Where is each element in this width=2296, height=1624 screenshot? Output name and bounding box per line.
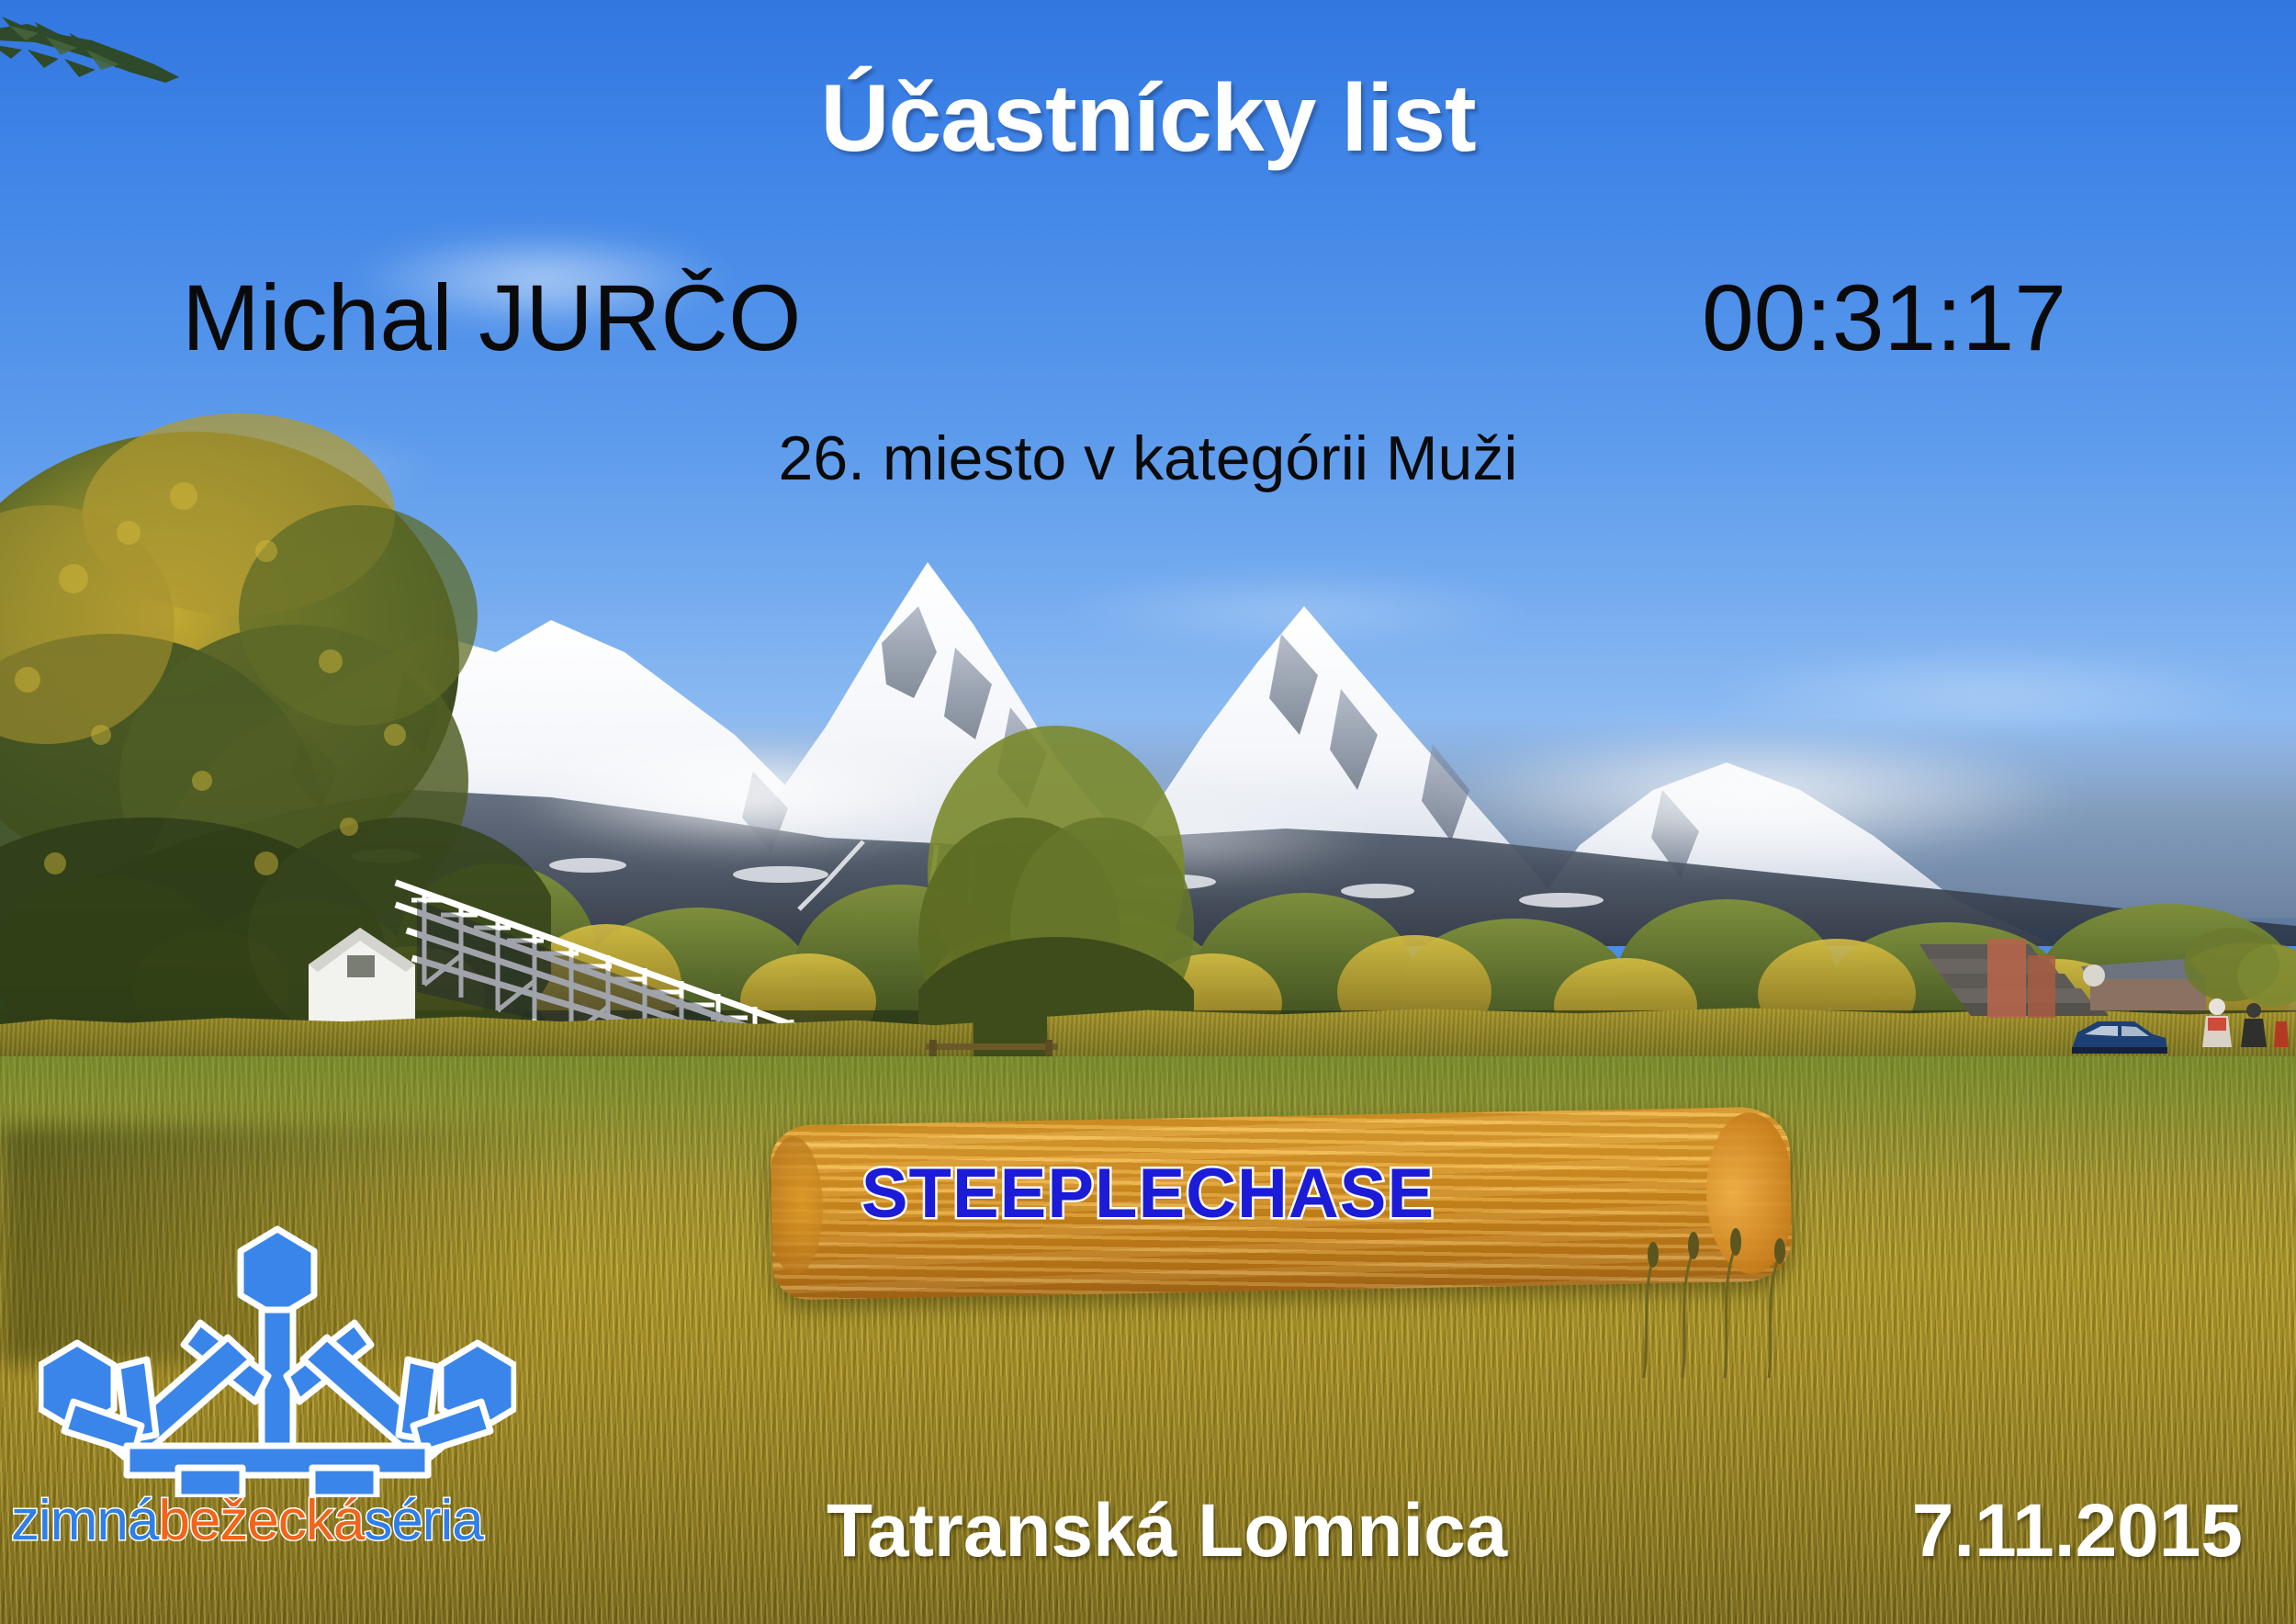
participant-name: Michal JURČO xyxy=(182,265,801,372)
logo-word-bezecka: bežecká xyxy=(158,1489,364,1552)
placement-text: 26. miesto v kategórii Muži xyxy=(0,423,2296,494)
series-logo-wordmark: zimnábežeckáséria xyxy=(11,1488,483,1553)
snowflake-icon xyxy=(39,1222,516,1497)
participant-certificate: Účastnícky list Michal JURČO 00:31:17 26… xyxy=(0,0,2296,1624)
logo-word-zimna: zimná xyxy=(11,1489,158,1552)
finish-time: 00:31:17 xyxy=(1702,265,2066,372)
race-date: 7.11.2015 xyxy=(1912,1488,2243,1574)
venue-name: Tatranská Lomnica xyxy=(827,1488,1507,1574)
logo-word-seria: séria xyxy=(364,1489,482,1552)
page-title: Účastnícky list xyxy=(0,64,2296,174)
